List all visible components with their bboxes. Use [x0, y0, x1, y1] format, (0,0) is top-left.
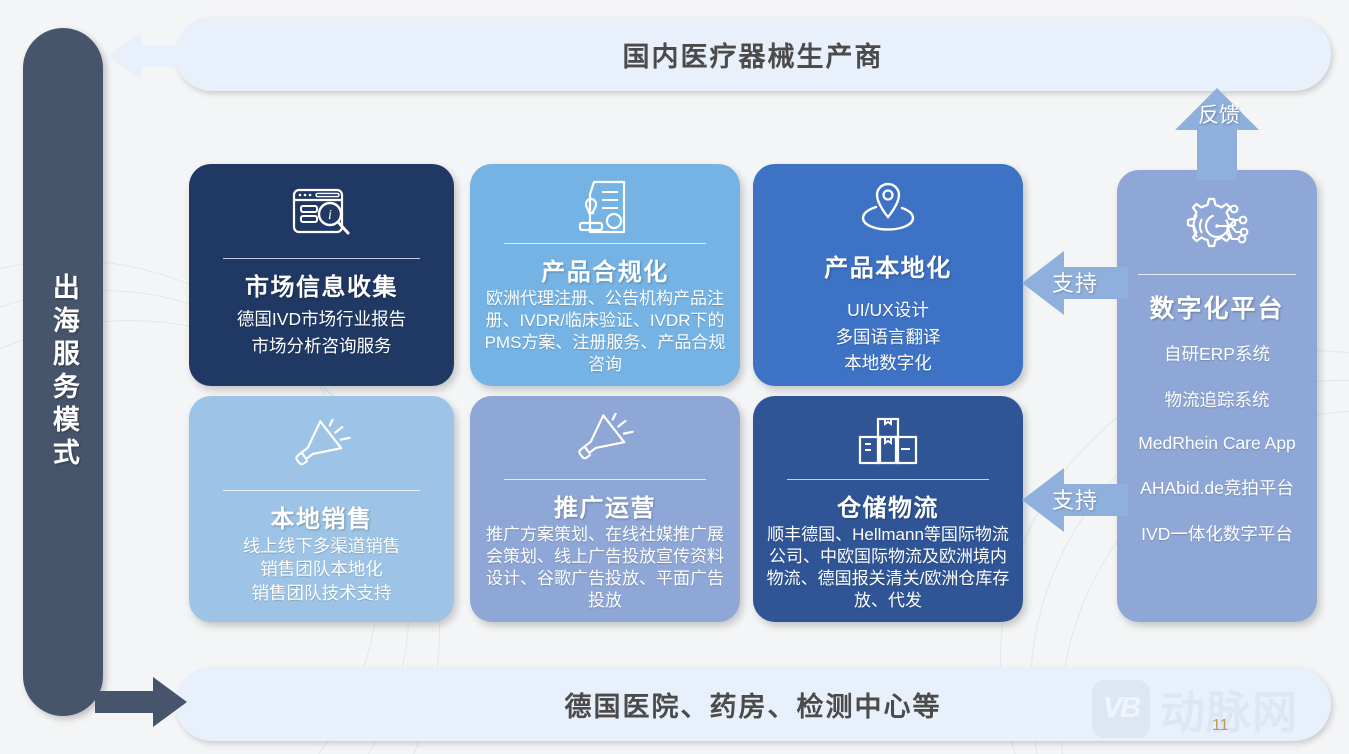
card-local-sales[interactable]: 本地销售 线上线下多渠道销售 销售团队本地化 销售团队技术支持 — [189, 396, 454, 622]
svg-text:i: i — [328, 208, 332, 223]
card-promotion-operations[interactable]: 推广运营 推广方案策划、在线社媒推广展会策划、线上广告投放宣传资料设计、谷歌广告… — [470, 396, 740, 622]
slide-canvas: 出海服务模式 国内医疗器械生产商 i 市场信息收集 德国IVD市场行业报告 市场… — [0, 0, 1349, 754]
arrow-support-upper: 支持 — [1022, 245, 1128, 321]
card-title: 本地销售 — [271, 499, 373, 534]
bottom-banner-customers: 德国医院、药房、检测中心等 — [175, 667, 1331, 741]
sidebar-label: 出海服务模式 — [45, 273, 81, 471]
panel-item[interactable]: 物流追踪系统 — [1165, 387, 1270, 412]
megaphone-icon — [291, 410, 353, 486]
arrow-support-lower: 支持 — [1022, 462, 1128, 538]
card-divider — [787, 479, 989, 480]
page-number: 11 — [1212, 717, 1229, 735]
card-divider — [504, 479, 706, 480]
browser-search-icon: i — [291, 178, 353, 254]
card-body: UI/UX设计 多国语言翻译 本地数字化 — [836, 297, 941, 377]
boxes-icon — [856, 410, 920, 475]
card-divider — [223, 258, 421, 259]
card-body: 线上线下多渠道销售 销售团队本地化 销售团队技术支持 — [243, 535, 401, 605]
stamped-document-icon — [576, 178, 634, 239]
top-banner-manufacturers: 国内医疗器械生产商 — [175, 17, 1331, 91]
card-product-localization[interactable]: 产品本地化 UI/UX设计 多国语言翻译 本地数字化 — [753, 164, 1023, 386]
bottom-banner-label: 德国医院、药房、检测中心等 — [565, 685, 942, 724]
card-title: 产品本地化 — [824, 248, 952, 283]
card-title: 推广运营 — [554, 488, 656, 523]
panel-divider — [1138, 274, 1296, 275]
location-pin-icon — [859, 178, 917, 236]
arrow-feedback-label: 反馈 — [1197, 104, 1241, 128]
card-market-information-collection[interactable]: i 市场信息收集 德国IVD市场行业报告 市场分析咨询服务 — [189, 164, 454, 386]
megaphone-icon — [574, 410, 636, 475]
panel-item[interactable]: 自研ERP系统 — [1164, 341, 1270, 366]
arrow-up-icon — [1175, 88, 1259, 180]
panel-item[interactable]: MedRhein Care App — [1138, 433, 1296, 454]
card-title: 仓储物流 — [837, 488, 939, 523]
arrow-support-label: 支持 — [1052, 266, 1124, 298]
card-body: 德国IVD市场行业报告 市场分析咨询服务 — [237, 306, 406, 359]
card-warehousing-logistics[interactable]: 仓储物流 顺丰德国、Hellmann等国际物流公司、中欧国际物流及欧洲境内物流、… — [753, 396, 1023, 622]
panel-item-list: 自研ERP系统 物流追踪系统 MedRhein Care App AHAbid.… — [1125, 341, 1309, 546]
top-banner-label: 国内医疗器械生产商 — [623, 35, 884, 74]
card-body: 推广方案策划、在线社媒推广展会策划、线上广告投放宣传资料设计、谷歌广告投放、平面… — [482, 524, 728, 612]
card-divider — [504, 243, 706, 244]
arrow-left-to-sidebar-icon — [108, 27, 200, 85]
arrow-feedback: 反馈 — [1175, 88, 1259, 180]
gear-circuit-icon — [1178, 186, 1256, 272]
card-body: 欧洲代理注册、公告机构产品注册、IVDR/临床验证、IVDR下的PMS方案、注册… — [482, 288, 728, 376]
card-title: 市场信息收集 — [245, 267, 398, 302]
service-mode-sidebar: 出海服务模式 — [23, 28, 103, 716]
arrow-right-from-sidebar-icon — [95, 673, 187, 731]
panel-digital-platform[interactable]: 数字化平台 自研ERP系统 物流追踪系统 MedRhein Care App A… — [1117, 170, 1317, 622]
panel-title: 数字化平台 — [1149, 289, 1284, 325]
card-title: 产品合规化 — [541, 252, 669, 287]
card-divider — [223, 490, 421, 491]
arrow-support-label: 支持 — [1052, 483, 1124, 515]
card-body: 顺丰德国、Hellmann等国际物流公司、中欧国际物流及欧洲境内物流、德国报关清… — [765, 524, 1011, 612]
card-product-compliance[interactable]: 产品合规化 欧洲代理注册、公告机构产品注册、IVDR/临床验证、IVDR下的PM… — [470, 164, 740, 386]
panel-item[interactable]: AHAbid.de竞拍平台 — [1140, 475, 1294, 500]
panel-item[interactable]: IVD一体化数字平台 — [1141, 521, 1293, 546]
